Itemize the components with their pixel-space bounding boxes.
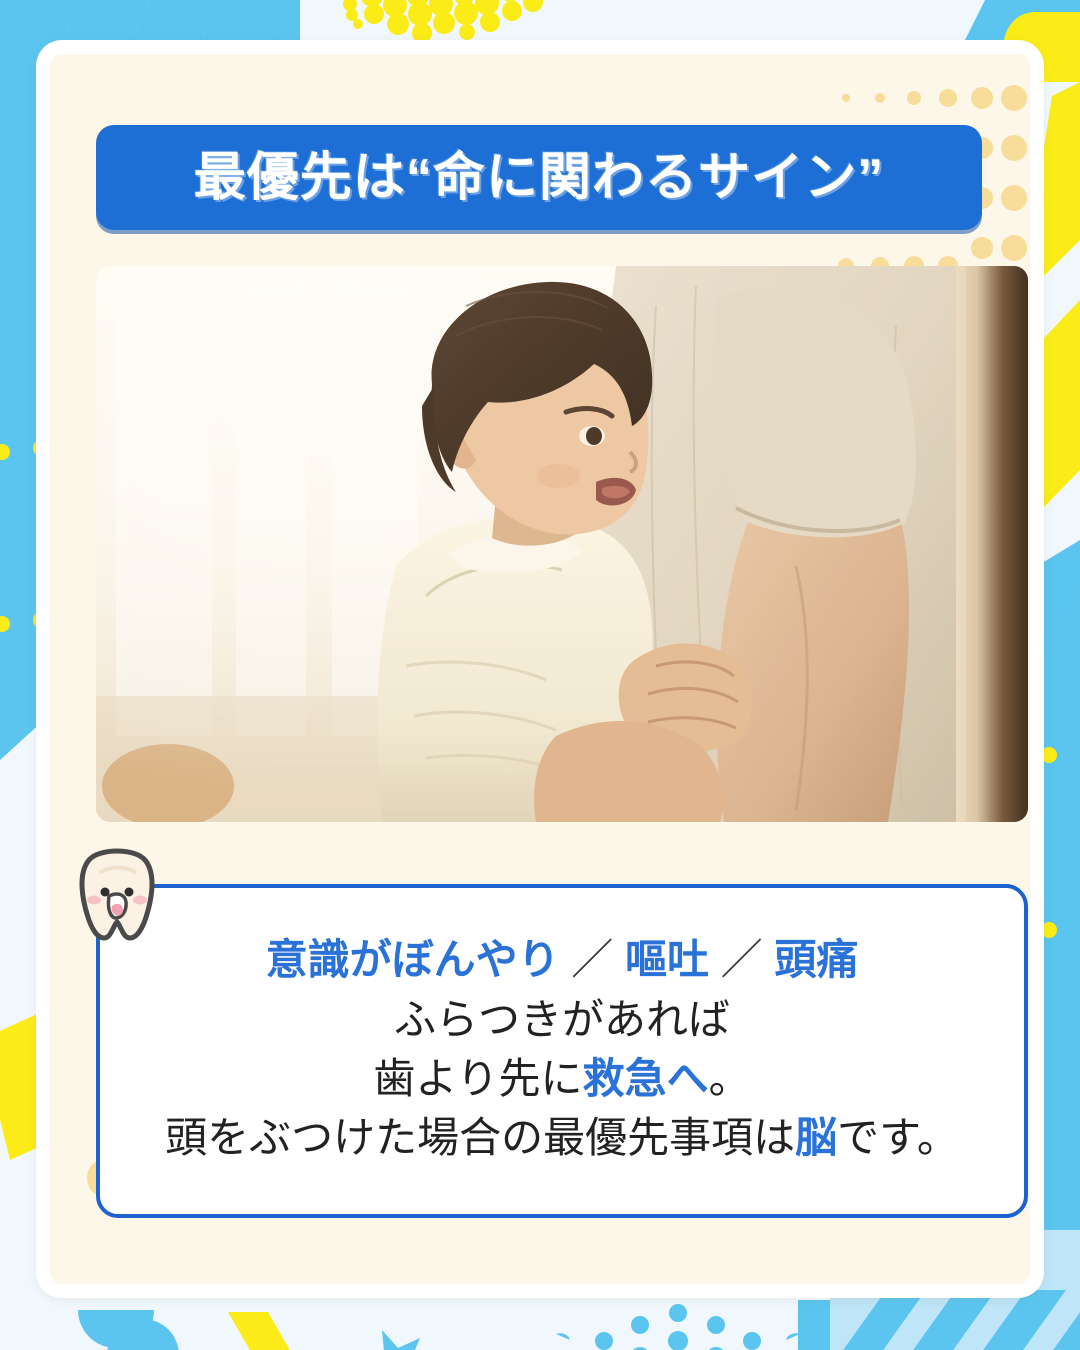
page-title: 最優先は“命に関わるサイン” [194, 152, 885, 204]
symptom-separator-1: ／ [560, 936, 625, 983]
emergency-text-suffix: 。 [709, 1055, 751, 1102]
poster-card: 最優先は“命に関わるサイン” [36, 40, 1044, 1298]
message-line-emergency: 歯より先に救急へ。 [373, 1052, 750, 1107]
message-line-dizziness: ふらつきがあれば [394, 993, 730, 1048]
brain-text-suffix: です。 [837, 1114, 959, 1161]
symptom-headache: 頭痛 [774, 936, 858, 983]
emergency-text-prefix: 歯より先に [373, 1055, 582, 1102]
message-box: 意識がぼんやり ／ 嘔吐 ／ 頭痛 ふらつきがあれば 歯より先に救急へ。 頭をぶ… [96, 884, 1028, 1218]
card-cream-surface: 最優先は“命に関わるサイン” [50, 54, 1030, 1284]
symptom-consciousness: 意識がぼんやり [266, 936, 560, 983]
hero-photo [96, 266, 1028, 822]
emergency-highlight: 救急へ [583, 1055, 709, 1102]
symptom-separator-2: ／ [709, 936, 774, 983]
title-banner: 最優先は“命に関わるサイン” [96, 125, 982, 230]
brain-text-prefix: 頭をぶつけた場合の最優先事項は [165, 1114, 795, 1161]
message-line-symptoms: 意識がぼんやり ／ 嘔吐 ／ 頭痛 [266, 933, 859, 988]
symptom-vomiting: 嘔吐 [625, 936, 709, 983]
poster-canvas: 最優先は“命に関わるサイン” [0, 0, 1080, 1350]
brain-highlight: 脳 [795, 1114, 837, 1161]
message-line-brain: 頭をぶつけた場合の最優先事項は脳です。 [165, 1111, 959, 1166]
tooth-mascot-icon [69, 844, 165, 948]
